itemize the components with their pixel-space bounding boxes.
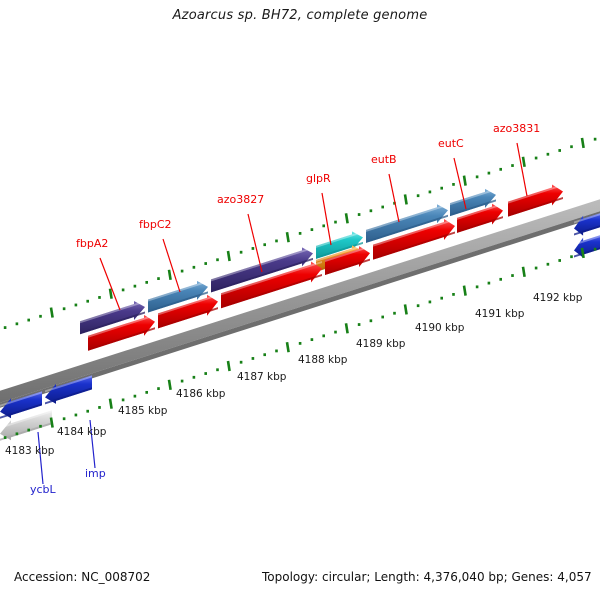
ruler-tick-label: 4188 kbp — [298, 354, 348, 366]
feature-b2[interactable] — [574, 235, 600, 257]
gene-label-glpR[interactable]: glpR — [306, 172, 331, 185]
ruler-tick-label: 4190 kbp — [415, 322, 465, 334]
genome-map-viewer: Azoarcus sp. BH72, complete genome — [0, 0, 600, 600]
ruler-tick-label: 4183 kbp — [5, 445, 55, 457]
gene-labels[interactable]: fbpA2fbpC2azo3827glpReutBeutCazo3831 — [76, 122, 540, 250]
ruler-tick-label: 4189 kbp — [356, 338, 406, 350]
genome-map-canvas[interactable]: fbpA2fbpC2azo3827glpReutBeutCazo3831 ycb… — [0, 0, 600, 600]
topology-text: Topology: circular; Length: 4,376,040 bp… — [262, 570, 592, 584]
feature-row-lower[interactable] — [88, 184, 563, 351]
ruler-tick-label: 4187 kbp — [237, 371, 287, 383]
ruler-tick-label: 4192 kbp — [533, 292, 583, 304]
gene-label-eutB[interactable]: eutB — [371, 153, 397, 166]
gene-label-azo3827[interactable]: azo3827 — [217, 193, 264, 206]
gene-label-eutC[interactable]: eutC — [438, 137, 464, 150]
gene-label-imp[interactable]: imp — [85, 467, 106, 480]
ruler-tick-label: 4186 kbp — [176, 388, 226, 400]
gene-label-fbpC2[interactable]: fbpC2 — [139, 218, 172, 231]
ruler-tick-label: 4191 kbp — [475, 308, 525, 320]
gene-label-azo3831[interactable]: azo3831 — [493, 122, 540, 135]
gene-label-ycbL[interactable]: ycbL — [30, 483, 57, 496]
accession-text: Accession: NC_008702 — [14, 570, 150, 584]
ruler-tick-label: 4184 kbp — [57, 426, 107, 438]
ruler-tick-label: 4185 kbp — [118, 405, 168, 417]
status-bar: Accession: NC_008702 Topology: circular;… — [0, 570, 600, 592]
gene-label-fbpA2[interactable]: fbpA2 — [76, 237, 108, 250]
